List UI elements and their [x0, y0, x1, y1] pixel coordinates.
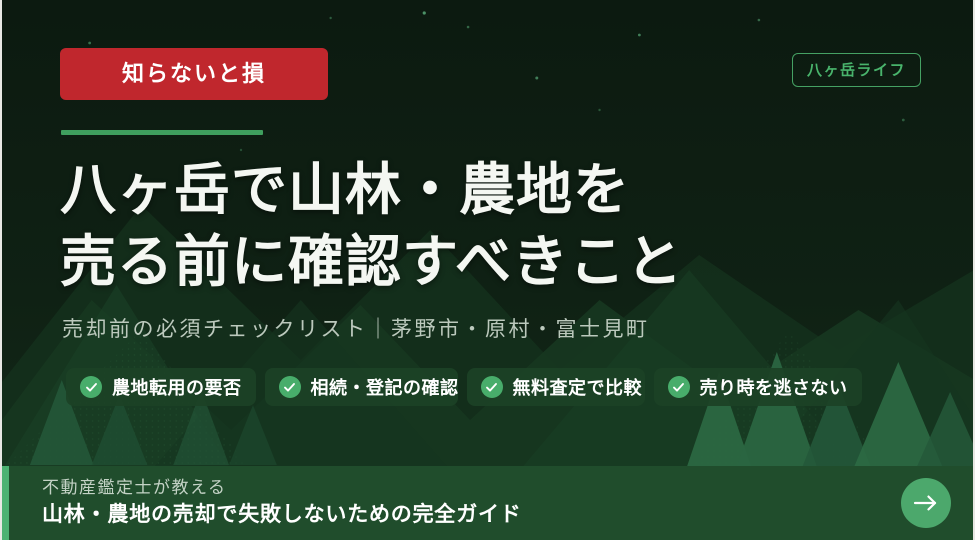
footer-text-block: 不動産鑑定士が教える 山林・農地の売却で失敗しないための完全ガイド [42, 477, 522, 529]
kicker-badge: 知らないと損 [60, 48, 328, 100]
page-subtitle: 売却前の必須チェックリスト｜茅野市・原村・富士見町 [62, 319, 975, 340]
page-title-line-2: 売る前に確認すべきこと [60, 226, 975, 298]
checklist-chip[interactable]: 売り時を逃さない [654, 368, 862, 406]
checklist-chip[interactable]: 無料査定で比較 [467, 368, 645, 406]
site-tag-badge[interactable]: 八ヶ岳ライフ [792, 53, 921, 87]
checklist-chip-label: 無料査定で比較 [513, 374, 643, 400]
next-arrow-button[interactable] [901, 478, 951, 528]
footer-bar: 不動産鑑定士が教える 山林・農地の売却で失敗しないための完全ガイド [2, 466, 975, 540]
checklist-chip-group: 農地転用の要否 相続・登記の確認 無料査定で比較 [66, 368, 946, 406]
checklist-chip-label: 農地転用の要否 [112, 374, 242, 400]
footer-eyebrow: 不動産鑑定士が教える [42, 477, 522, 498]
checklist-chip-label: 相続・登記の確認 [311, 374, 458, 400]
check-circle-icon [279, 376, 301, 398]
checklist-chip-label: 売り時を逃さない [700, 374, 848, 400]
check-circle-icon [668, 376, 690, 398]
footer-title: 山林・農地の売却で失敗しないための完全ガイド [42, 501, 522, 528]
page-title: 八ヶ岳で山林・農地を 売る前に確認すべきこと [60, 154, 975, 297]
check-circle-icon [481, 376, 503, 398]
checklist-chip[interactable]: 農地転用の要否 [66, 368, 256, 406]
check-circle-icon [80, 376, 102, 398]
checklist-chip[interactable]: 相続・登記の確認 [265, 368, 458, 406]
accent-rule [61, 130, 263, 135]
footer-accent-stripe [2, 466, 9, 540]
page-title-line-1: 八ヶ岳で山林・農地を [60, 154, 975, 226]
arrow-right-icon [913, 494, 939, 512]
hero-banner: 知らないと損 八ヶ岳で山林・農地を 売る前に確認すべきこと 売却前の必須チェック… [0, 0, 975, 540]
